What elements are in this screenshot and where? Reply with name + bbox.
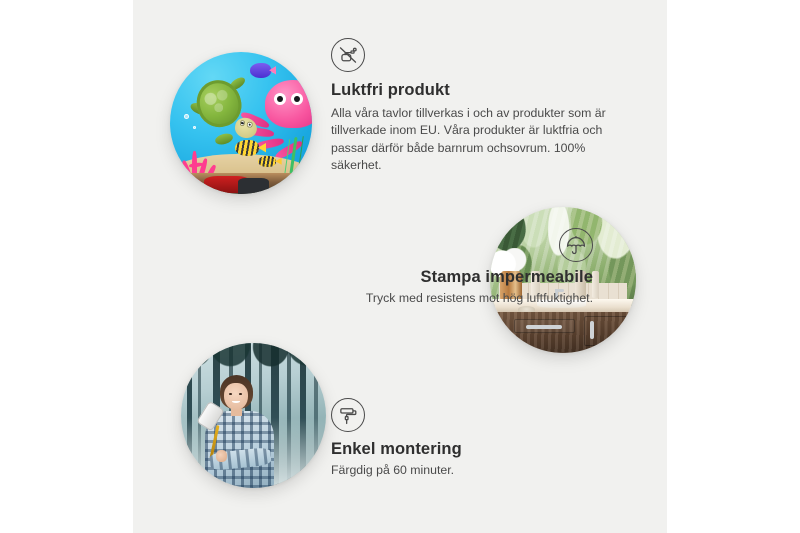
yellow-fish-large <box>235 140 259 156</box>
wooden-vanity-cabinet <box>493 312 636 353</box>
feature-title: Luktfri produkt <box>331 81 633 100</box>
bathroom-bottle <box>592 271 599 297</box>
feature-title: Stampa impermeabile <box>193 268 593 287</box>
screenshot-root: Luktfri produkt Alla våra tavlor tillver… <box>0 0 800 533</box>
purple-fish <box>250 63 271 77</box>
paint-roller-icon <box>331 398 365 432</box>
yellow-fish-small <box>258 156 276 167</box>
no-spray-bottle-icon <box>331 38 365 72</box>
ocean-scene <box>170 52 312 194</box>
image-ocean-mural <box>170 52 312 194</box>
image-woman-with-roller <box>181 343 326 488</box>
ocean-foreground-dark <box>238 178 269 194</box>
feature-body: Alla våra tavlor tillverkas i och av pro… <box>331 105 633 175</box>
forest-mural-scene <box>181 343 326 488</box>
feature-odourless: Luktfri produkt Alla våra tavlor tillver… <box>331 38 633 175</box>
content-panel: Luktfri produkt Alla våra tavlor tillver… <box>133 0 667 533</box>
sea-turtle <box>193 78 258 143</box>
feature-body: Tryck med resistens mot hög luftfuktighe… <box>193 290 593 307</box>
vanity-drawer <box>514 319 575 334</box>
feature-waterproof: Stampa impermeabile Tryck med resistens … <box>193 228 593 307</box>
smile <box>232 400 240 403</box>
vanity-door <box>584 316 636 346</box>
hand <box>216 450 227 462</box>
feature-body: Färgdig på 60 minuter. <box>331 462 611 479</box>
umbrella-icon <box>559 228 593 262</box>
woman-figure <box>201 375 285 488</box>
feature-title: Enkel montering <box>331 440 611 459</box>
feature-easy-assembly: Enkel montering Färgdig på 60 minuter. <box>331 398 611 479</box>
